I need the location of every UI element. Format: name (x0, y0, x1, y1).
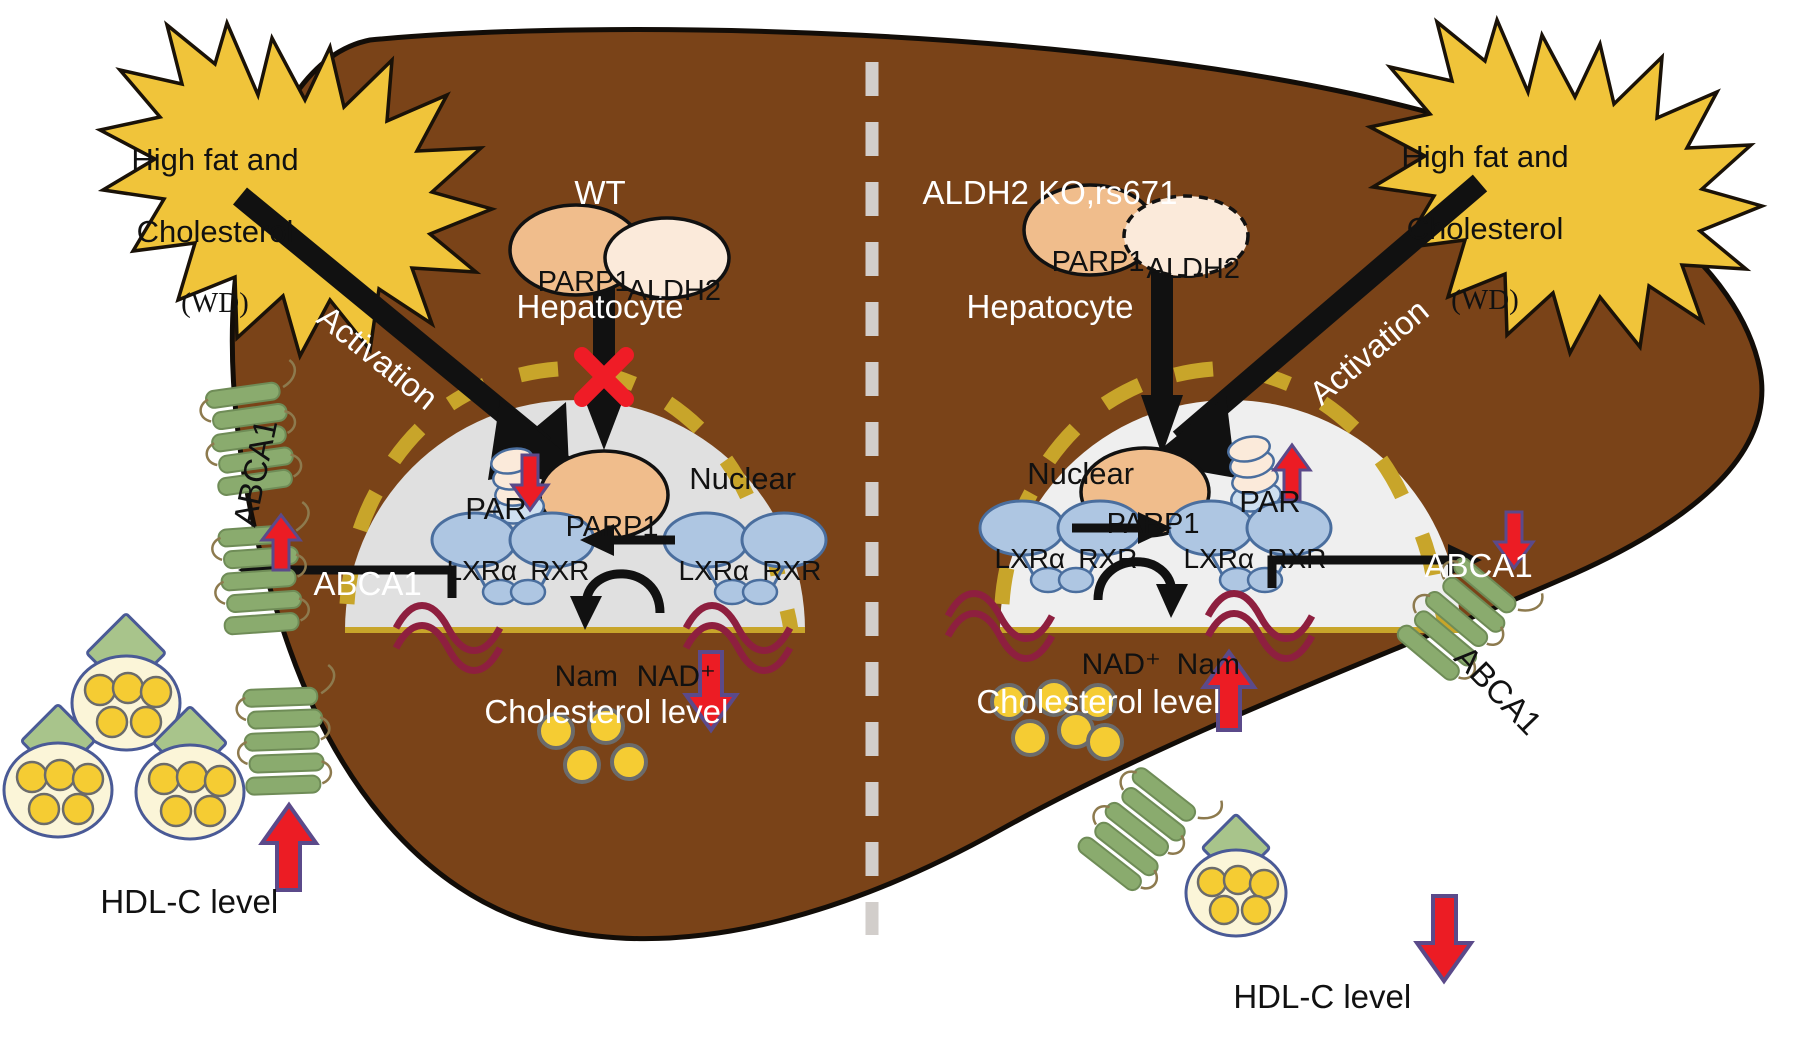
right-hdlc-down-arrow-icon (1417, 896, 1471, 981)
right-hdlc-label: HDL-C level (1215, 940, 1411, 1016)
right-cholesterol-label: Cholesterol level (958, 645, 1220, 721)
left-hdlc-label: HDL-C level (82, 845, 278, 921)
left-rxr-label-b: RXR (738, 523, 830, 587)
right-rxr-label-b: RXR (1243, 511, 1335, 575)
right-par-label: PAR (1222, 448, 1301, 519)
hdl-particle-right-1 (1186, 814, 1286, 936)
pathway-figure: High fat and Cholesterol (WD) High fat a… (0, 0, 1805, 1044)
left-nucleus-label: Nuclear (672, 425, 796, 496)
right-aldh2-label: ALDH2 (1123, 220, 1249, 287)
left-aldh2-label: ALDH2 (604, 242, 730, 309)
left-abca1-label: ABCA1 (297, 527, 422, 603)
right-abca1-label: ABCA1 (1408, 509, 1533, 585)
left-rxr-label-a: RXR (506, 523, 598, 587)
right-rxr-label-a: RXR (1054, 511, 1146, 575)
hdl-particle-left-1 (72, 613, 180, 750)
left-panel-title: WT Hepatocyte (470, 98, 730, 364)
left-cholesterol-label: Cholesterol level (466, 655, 728, 731)
left-par-label: PAR (448, 455, 527, 526)
